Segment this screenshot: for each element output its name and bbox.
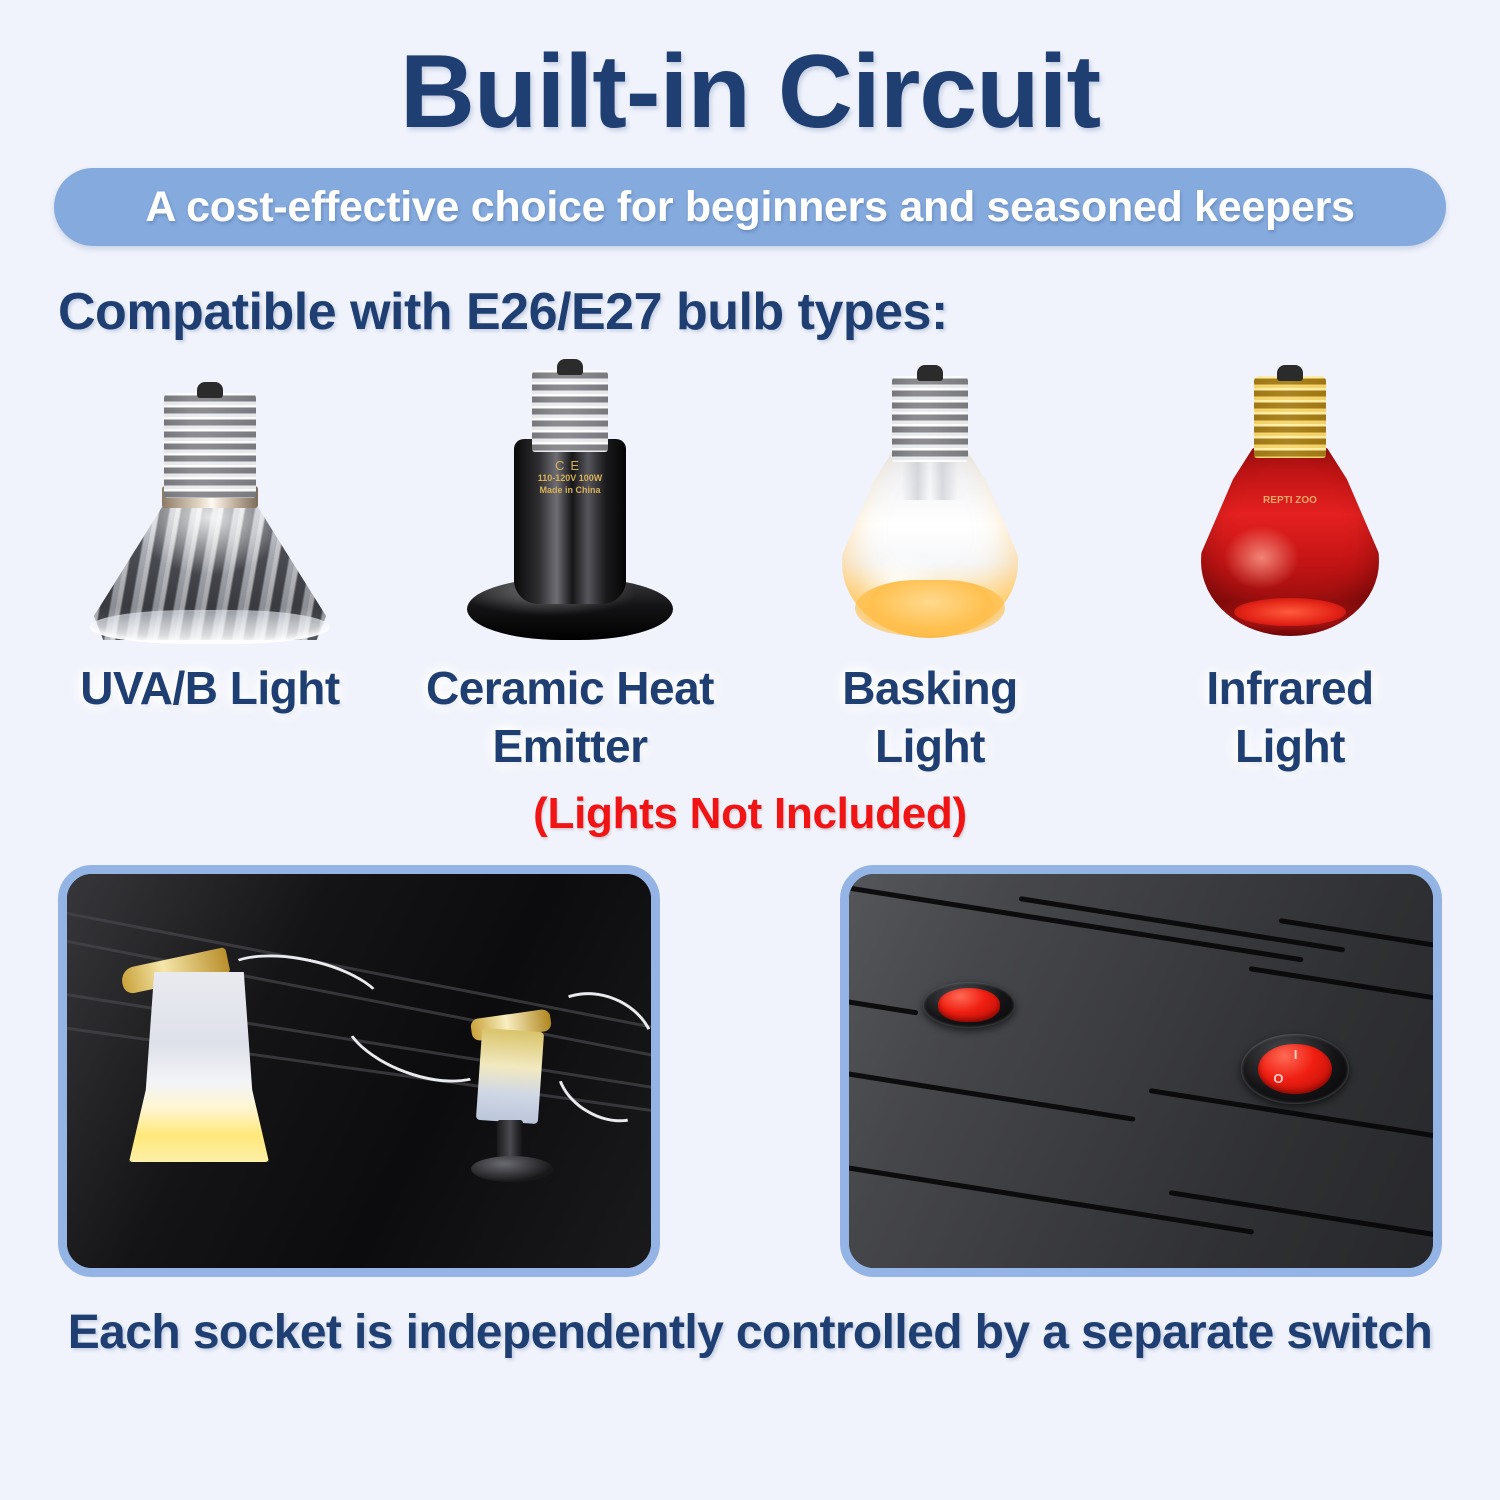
switch-on-mark: I xyxy=(1294,1048,1298,1061)
compatibility-heading: Compatible with E26/E27 bulb types: xyxy=(58,282,1500,342)
bulb-item-ceramic: CE 110-120V 100W Made in China Ceramic H… xyxy=(390,358,750,775)
ceramic-print-origin: Made in China xyxy=(515,484,625,496)
lights-not-included-note: (Lights Not Included) xyxy=(0,789,1500,839)
bulb-label-uvab: UVA/B Light xyxy=(80,660,339,718)
basking-bulb-icon xyxy=(750,358,1110,648)
page-title: Built-in Circuit xyxy=(0,0,1500,144)
infrared-brand-print: REPTI ZOO xyxy=(1263,495,1317,506)
second-socket xyxy=(476,1028,544,1124)
subtitle-banner: A cost-effective choice for beginners an… xyxy=(54,168,1446,246)
rocker-switches-photo: I O xyxy=(840,865,1442,1277)
bulb-label-ceramic-line1: Ceramic Heat xyxy=(426,660,714,718)
infrared-bulb-icon: REPTI ZOO xyxy=(1110,358,1470,648)
photo-panel-row: I O xyxy=(0,865,1500,1277)
bulb-label-ceramic-line2: Emitter xyxy=(426,718,714,776)
bulb-label-infrared: Infrared Light xyxy=(1206,660,1373,775)
internal-wiring-photo xyxy=(58,865,660,1277)
bulb-type-list: UVA/B Light CE 110-120V 100W Made in Chi… xyxy=(0,358,1500,775)
ceramic-print-voltage: 110-120V 100W xyxy=(515,472,625,484)
bulb-item-basking: Basking Light xyxy=(750,358,1110,775)
bulb-label-infrared-line2: Light xyxy=(1206,718,1373,776)
bulb-label-basking: Basking Light xyxy=(842,660,1017,775)
bulb-item-uvab: UVA/B Light xyxy=(30,358,390,775)
bulb-label-infrared-line1: Infrared xyxy=(1206,660,1373,718)
uvb-reflector-bulb-icon xyxy=(30,358,390,648)
bulb-item-infrared: REPTI ZOO Infrared Light xyxy=(1110,358,1470,775)
bulb-label-ceramic: Ceramic Heat Emitter xyxy=(426,660,714,775)
subtitle-text: A cost-effective choice for beginners an… xyxy=(145,183,1354,232)
rocker-switch-left[interactable] xyxy=(923,982,1015,1028)
bulb-label-basking-line1: Basking xyxy=(842,660,1017,718)
footer-caption: Each socket is independently controlled … xyxy=(0,1305,1500,1360)
switch-off-mark: O xyxy=(1273,1072,1283,1085)
bulb-label-basking-line2: Light xyxy=(842,718,1017,776)
rocker-switch-right[interactable]: I O xyxy=(1241,1034,1349,1104)
ceramic-heat-emitter-icon: CE 110-120V 100W Made in China xyxy=(390,358,750,648)
